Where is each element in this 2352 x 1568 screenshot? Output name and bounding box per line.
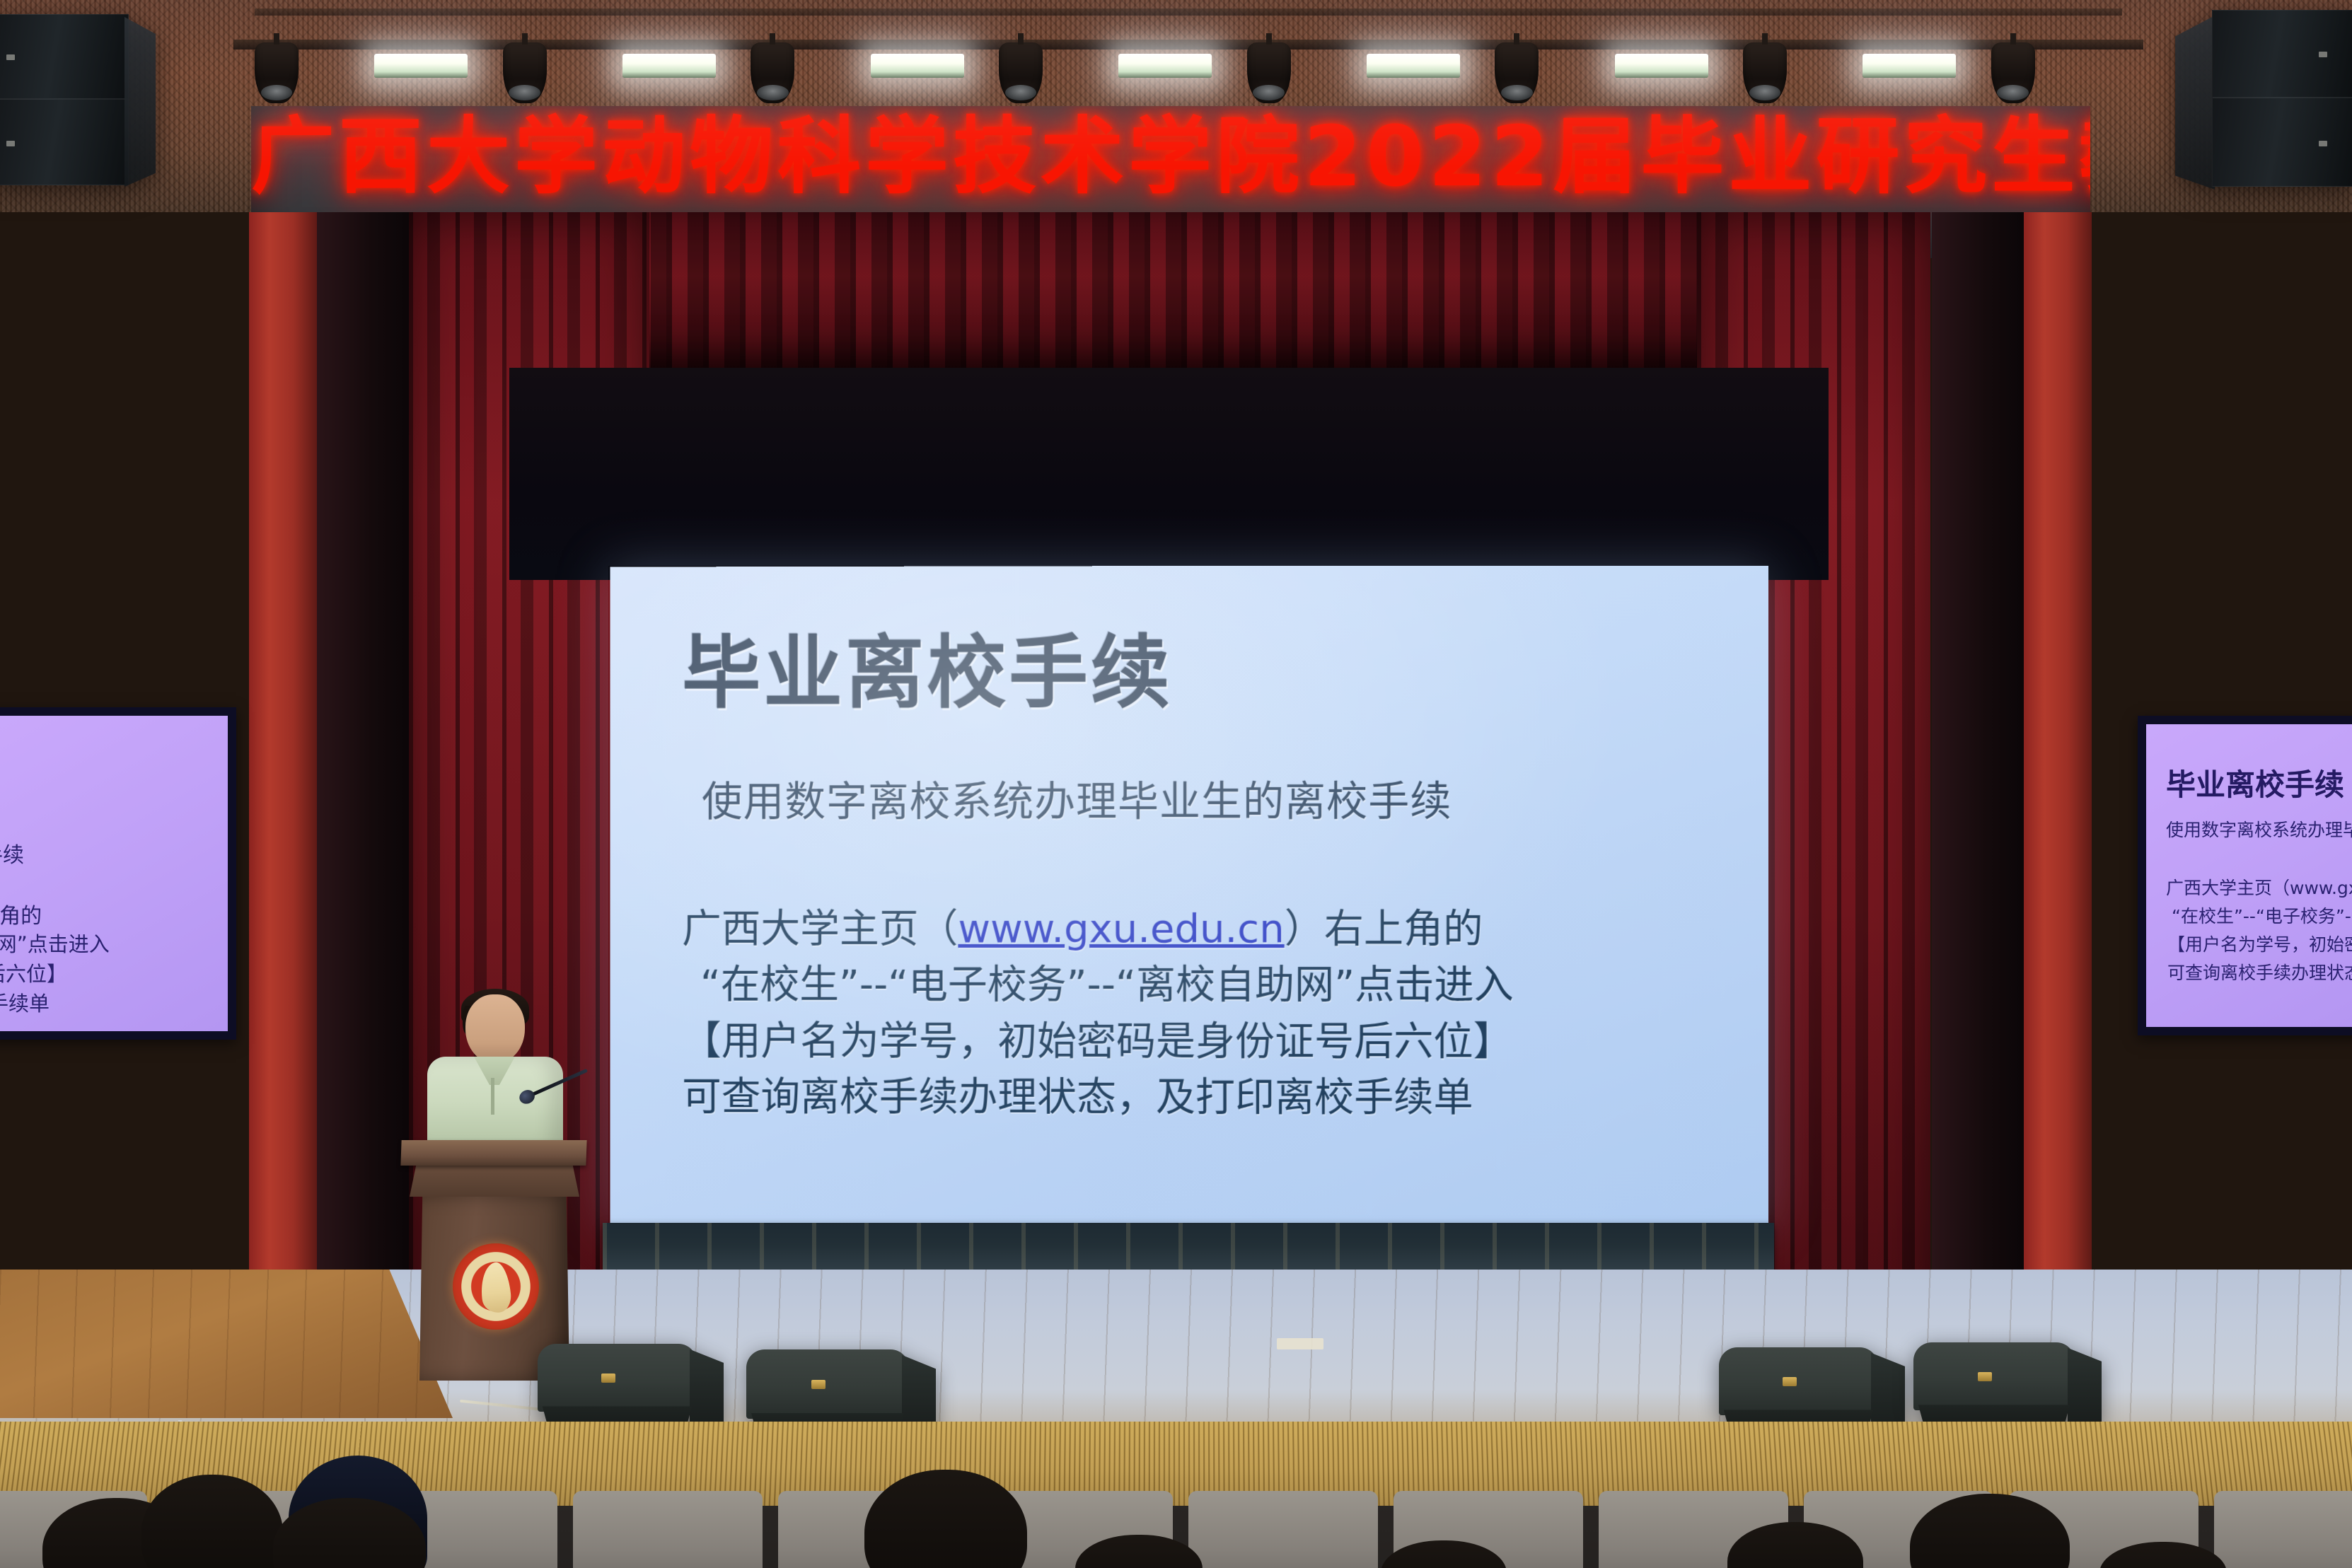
slide-body-line-1: 广西大学主页（www.gxu.edu.cn）右上角的 bbox=[682, 901, 1720, 958]
seal-flame-motif bbox=[479, 1261, 514, 1314]
stage-floor-wood-left bbox=[0, 1270, 453, 1418]
slide-body-line-3: 【用户名为学号，初始密码是身份证号后六位】 bbox=[682, 1013, 1720, 1070]
stage-spotlight bbox=[255, 42, 299, 103]
left-monitor-line-1: 生的离校手续 bbox=[0, 837, 24, 869]
spotlight-lens bbox=[1501, 85, 1533, 100]
stage-spotlight bbox=[1495, 42, 1539, 103]
presenter-placket bbox=[491, 1078, 494, 1115]
audience-seat bbox=[1188, 1491, 1378, 1568]
presenter bbox=[422, 989, 567, 1147]
spotlight-lens bbox=[1749, 85, 1781, 100]
line-array-side bbox=[2175, 16, 2215, 190]
wedge-face bbox=[538, 1344, 697, 1412]
wedge-face bbox=[746, 1349, 909, 1419]
right-monitor-line-4: 【用户名为学号，初始密码是 bbox=[2167, 931, 2352, 956]
wedge-badge bbox=[811, 1380, 825, 1389]
stage-spotlight bbox=[1991, 42, 2035, 103]
slide-subtitle: 使用数字离校系统办理毕业生的离校手续 bbox=[702, 767, 1720, 827]
spotlight-lens bbox=[757, 85, 789, 100]
spotlight-yoke bbox=[522, 33, 528, 45]
wedge-badge bbox=[601, 1374, 615, 1383]
led-banner-text: 广西大学动物科学技术学院2022届毕业研究生教育会议 bbox=[251, 115, 2090, 198]
speaker-badge bbox=[2319, 141, 2327, 146]
audience-seat bbox=[573, 1491, 763, 1568]
right-monitor-title: 毕业离校手续 bbox=[2166, 761, 2344, 804]
spotlight-yoke bbox=[1514, 33, 1519, 45]
wedge-face bbox=[1913, 1342, 2075, 1410]
slide-line1-before: 广西大学主页（ bbox=[682, 906, 958, 952]
slide-content: 毕业离校手续 使用数字离校系统办理毕业生的离校手续 广西大学主页（www.gxu… bbox=[610, 566, 1768, 1227]
strip-light bbox=[1118, 54, 1212, 78]
audience-seat bbox=[2214, 1491, 2352, 1568]
speaker-badge bbox=[2319, 52, 2327, 57]
strip-light bbox=[622, 54, 716, 78]
confidence-monitor-left: 生的离校手续 du.cn）右上角的 - “离校自助网”点击进入 是身份证号后六位… bbox=[0, 707, 236, 1040]
projection-screen-surface: 毕业离校手续 使用数字离校系统办理毕业生的离校手续 广西大学主页（www.gxu… bbox=[610, 566, 1768, 1227]
podium-neck bbox=[410, 1164, 579, 1197]
strip-light bbox=[374, 54, 468, 78]
stage-spotlight bbox=[751, 42, 794, 103]
line-array-box bbox=[2212, 10, 2352, 98]
right-monitor-line-3: “在校生”--“电子校务”-- bbox=[2172, 902, 2352, 928]
speaker-badge bbox=[6, 141, 15, 146]
stage-monitor-wedge-right-b bbox=[1913, 1342, 2075, 1434]
stage-spotlight bbox=[1247, 42, 1291, 103]
spotlight-lens bbox=[261, 85, 293, 100]
left-monitor-line-3: - “离校自助网”点击进入 bbox=[0, 928, 110, 958]
black-masking bbox=[509, 368, 1829, 580]
gxu-homepage-link[interactable]: www.gxu.edu.cn bbox=[958, 906, 1284, 952]
spotlight-yoke bbox=[274, 33, 279, 45]
right-monitor-line-1: 使用数字离校系统办理毕业生 bbox=[2166, 816, 2352, 842]
left-monitor-line-4: 是身份证号后六位】 bbox=[0, 958, 67, 987]
spotlight-yoke bbox=[1762, 33, 1768, 45]
line-array-speaker-right bbox=[2175, 10, 2352, 194]
spotlight-yoke bbox=[1018, 33, 1024, 45]
slide-title: 毕业离校手续 bbox=[682, 632, 1720, 716]
line-array-speaker-left bbox=[0, 14, 156, 191]
line-array-box bbox=[0, 99, 129, 185]
spotlight-lens bbox=[509, 85, 540, 100]
slide-body-line-2: “在校生”--“电子校务”--“离校自助网”点击进入 bbox=[682, 957, 1720, 1014]
stage-spotlight bbox=[1743, 42, 1787, 103]
slide-body-line-4: 可查询离校手续办理状态，及打印离校手续单 bbox=[682, 1069, 1720, 1126]
auditorium-scene: 广西大学动物科学技术学院2022届毕业研究生教育会议 毕业离校手续 使用数字离校… bbox=[0, 0, 2352, 1568]
strip-light bbox=[871, 54, 964, 78]
guangxi-university-seal-icon bbox=[453, 1243, 539, 1330]
right-monitor-line-5: 可查询离校手续办理状态，及 bbox=[2167, 959, 2352, 985]
slide-body: 广西大学主页（www.gxu.edu.cn）右上角的 “在校生”--“电子校务”… bbox=[682, 901, 1720, 1127]
spotlight-yoke bbox=[1266, 33, 1272, 45]
line-array-side bbox=[124, 17, 156, 187]
strip-light bbox=[1367, 54, 1460, 78]
spotlight-lens bbox=[1997, 85, 2029, 100]
spotlight-lens bbox=[1005, 85, 1037, 100]
wedge-badge bbox=[1783, 1377, 1797, 1386]
confidence-monitor-left-screen: 生的离校手续 du.cn）右上角的 - “离校自助网”点击进入 是身份证号后六位… bbox=[0, 716, 228, 1031]
podium bbox=[407, 1140, 581, 1378]
presenter-head bbox=[465, 994, 525, 1064]
stage-spotlight bbox=[503, 42, 547, 103]
projection-screen: 毕业离校手续 使用数字离校系统办理毕业生的离校手续 广西大学主页（www.gxu… bbox=[608, 566, 1768, 1227]
spotlight-yoke bbox=[2010, 33, 2016, 45]
confidence-monitor-right-screen: 毕业离校手续 使用数字离校系统办理毕业生 广西大学主页（www.gxu.edu … bbox=[2146, 724, 2352, 1027]
line-array-box bbox=[2212, 98, 2352, 187]
wedge-side bbox=[2068, 1348, 2102, 1433]
wedge-badge bbox=[1978, 1372, 1992, 1381]
floor-prop bbox=[1277, 1338, 1323, 1349]
spotlight-lens bbox=[1253, 85, 1285, 100]
strip-light bbox=[1615, 54, 1708, 78]
slide-line1-after: ）右上角的 bbox=[1285, 906, 1483, 952]
right-monitor-line-2: 广西大学主页（www.gxu.edu bbox=[2166, 874, 2352, 900]
wedge-face bbox=[1719, 1347, 1878, 1415]
spotlight-yoke bbox=[770, 33, 775, 45]
strip-light bbox=[1863, 54, 1956, 78]
truss-bar-upper bbox=[255, 8, 2122, 16]
line-array-box bbox=[0, 14, 129, 99]
podium-top bbox=[400, 1140, 586, 1166]
left-monitor-line-5: 及打印离校手续单 bbox=[0, 987, 50, 1017]
stage-spotlight bbox=[999, 42, 1043, 103]
left-monitor-line-2: du.cn）右上角的 bbox=[0, 898, 42, 929]
speaker-badge bbox=[6, 54, 15, 60]
confidence-monitor-right: 毕业离校手续 使用数字离校系统办理毕业生 广西大学主页（www.gxu.edu … bbox=[2138, 716, 2352, 1035]
